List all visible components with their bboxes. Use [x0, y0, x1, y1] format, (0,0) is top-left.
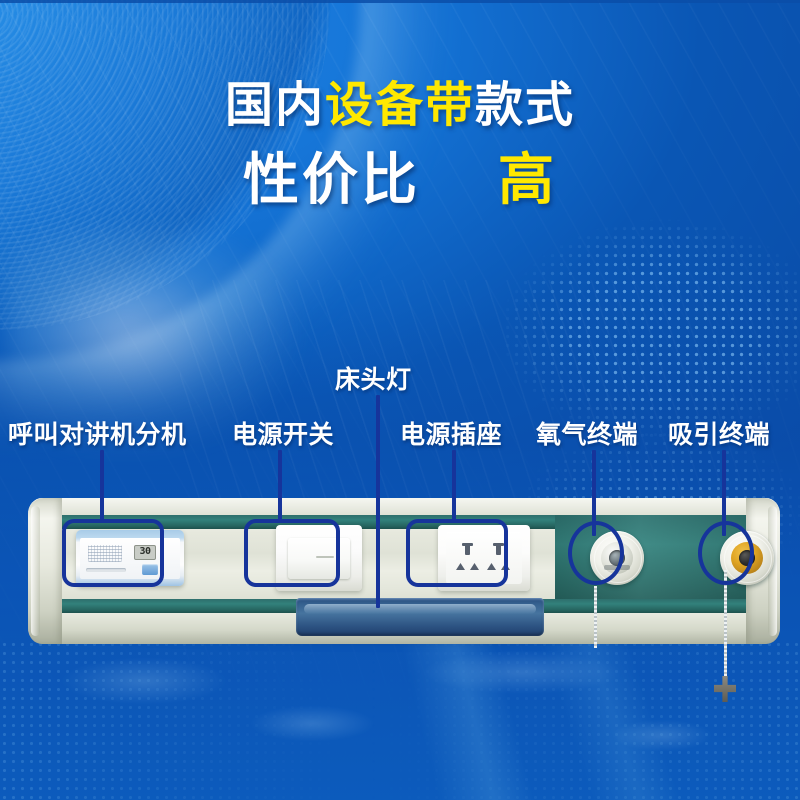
callout-line-oxygen	[592, 450, 596, 536]
callout-line-power-socket	[452, 450, 456, 522]
poster-canvas: 国内设备带款式 性价比高 呼叫对讲机分机 电源开关 床头灯 电源插座 氧气终端 …	[0, 0, 800, 800]
callout-label-oxygen: 氧气终端	[536, 415, 638, 451]
callout-line-bed-lamp	[376, 395, 380, 608]
callout-label-intercom: 呼叫对讲机分机	[8, 415, 187, 451]
callout-line-power-switch	[278, 450, 282, 522]
callout-label-power-socket: 电源插座	[400, 415, 502, 451]
callout-label-power-switch: 电源开关	[232, 415, 334, 451]
callout-line-intercom	[100, 450, 104, 522]
callout-layer: 呼叫对讲机分机 电源开关 床头灯 电源插座 氧气终端 吸引终端	[0, 0, 800, 800]
callout-label-bed-lamp: 床头灯	[335, 360, 412, 396]
suction-pull-cord[interactable]	[724, 570, 727, 678]
callout-line-suction	[722, 450, 726, 536]
oxygen-pull-cord[interactable]	[594, 586, 597, 648]
callout-label-suction: 吸引终端	[668, 415, 770, 451]
